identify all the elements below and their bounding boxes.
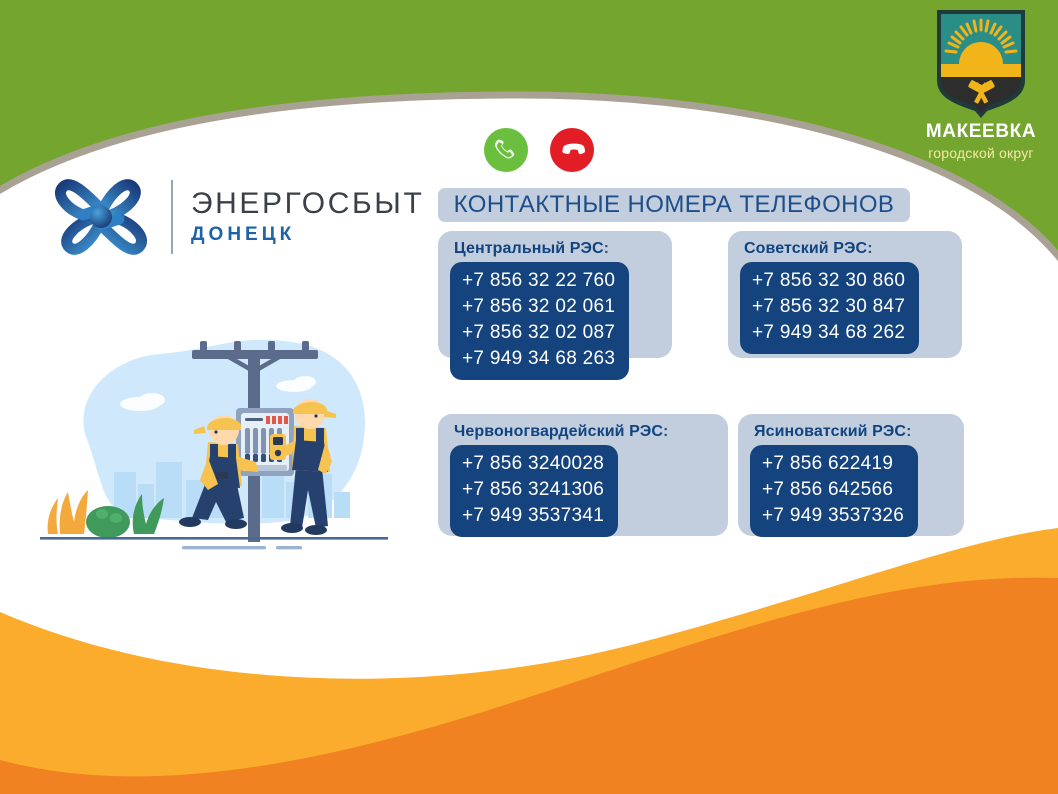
- phone-number[interactable]: +7 856 32 02 087: [462, 320, 615, 346]
- phone-number[interactable]: +7 856 32 30 860: [752, 268, 905, 294]
- makeevka-emblem: МАКЕЕВКА городской округ: [906, 6, 1056, 172]
- call-status-icons: [484, 124, 594, 176]
- res-card-title: Советский РЭС:: [744, 239, 962, 258]
- phone-number[interactable]: +7 949 3537341: [462, 503, 604, 529]
- poster-canvas: МАКЕЕВКА городской округ: [0, 0, 1058, 794]
- res-card-chervonogvardeysky: Червоногвардейский РЭС: +7 856 3240028 +…: [438, 414, 728, 536]
- coat-of-arms-icon: [933, 6, 1029, 118]
- phone-answer-icon[interactable]: [484, 126, 528, 174]
- ground-line: [40, 537, 388, 540]
- phone-number[interactable]: +7 949 3537326: [762, 503, 904, 529]
- res-card-title: Центральный РЭС:: [454, 239, 672, 258]
- phone-number-box: +7 856 32 30 860 +7 856 32 30 847 +7 949…: [740, 262, 919, 353]
- res-card-title: Червоногвардейский РЭС:: [454, 422, 728, 441]
- page-title-text: КОНТАКТНЫЕ НОМЕРА ТЕЛЕФОНОВ: [454, 191, 895, 219]
- atom-swirl-logo-icon: [45, 163, 157, 271]
- phone-number[interactable]: +7 949 34 68 263: [462, 346, 615, 372]
- phone-number[interactable]: +7 856 642566: [762, 477, 904, 503]
- page-title: КОНТАКТНЫЕ НОМЕРА ТЕЛЕФОНОВ: [438, 188, 910, 222]
- res-title-colon: :: [906, 423, 911, 440]
- res-title-colon: :: [663, 423, 668, 440]
- phone-number[interactable]: +7 856 32 02 061: [462, 294, 615, 320]
- logo-divider: [171, 180, 173, 254]
- energosbyt-logo: ЭНЕРГОСБЫТ ДОНЕЦК: [45, 162, 355, 272]
- res-title-colon: :: [604, 240, 609, 257]
- phone-number-box: +7 856 32 22 760 +7 856 32 02 061 +7 856…: [450, 262, 629, 379]
- phone-number[interactable]: +7 856 32 22 760: [462, 268, 615, 294]
- emblem-subtitle: городской округ: [928, 146, 1033, 160]
- phone-decline-icon[interactable]: [550, 126, 594, 174]
- electricians-illustration: [30, 322, 392, 560]
- res-card-central: Центральный РЭС: +7 856 32 22 760 +7 856…: [438, 231, 672, 358]
- emblem-city-name: МАКЕЕВКА: [926, 122, 1036, 141]
- res-card-sovetsky: Советский РЭС: +7 856 32 30 860 +7 856 3…: [728, 231, 962, 358]
- res-title-text: Советский РЭС: [744, 240, 867, 257]
- res-title-colon: :: [867, 240, 872, 257]
- res-title-text: Ясиноватский РЭС: [754, 423, 906, 440]
- res-card-yasinovatsky: Ясиноватский РЭС: +7 856 622419 +7 856 6…: [738, 414, 964, 536]
- phone-number-box: +7 856 622419 +7 856 642566 +7 949 35373…: [750, 445, 918, 536]
- phone-number-box: +7 856 3240028 +7 856 3241306 +7 949 353…: [450, 445, 618, 536]
- logo-title: ЭНЕРГОСБЫТ: [191, 188, 424, 220]
- phone-number[interactable]: +7 949 34 68 262: [752, 320, 905, 346]
- logo-subtitle: ДОНЕЦК: [191, 225, 424, 246]
- res-card-title: Ясиноватский РЭС:: [754, 422, 964, 441]
- phone-number[interactable]: +7 856 3241306: [462, 477, 604, 503]
- phone-number[interactable]: +7 856 3240028: [462, 451, 604, 477]
- phone-number[interactable]: +7 856 32 30 847: [752, 294, 905, 320]
- phone-number[interactable]: +7 856 622419: [762, 451, 904, 477]
- res-title-text: Центральный РЭС: [454, 240, 604, 257]
- res-title-text: Червоногвардейский РЭС: [454, 423, 663, 440]
